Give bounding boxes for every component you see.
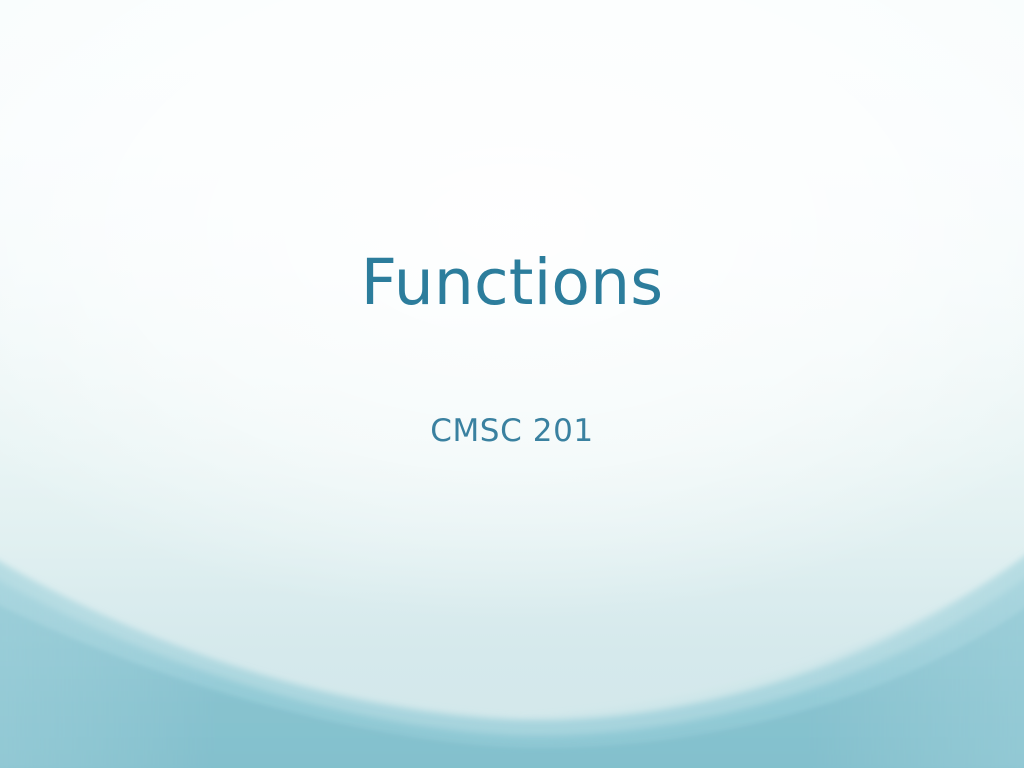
subtitle-placeholder: CMSC 201 [0, 413, 1024, 450]
title-slide: Functions CMSC 201 [0, 0, 1024, 768]
title-placeholder: Functions [0, 248, 1024, 317]
slide-title: Functions [361, 248, 664, 317]
slide-subtitle: CMSC 201 [430, 413, 594, 450]
slide-content: Functions CMSC 201 [0, 0, 1024, 768]
